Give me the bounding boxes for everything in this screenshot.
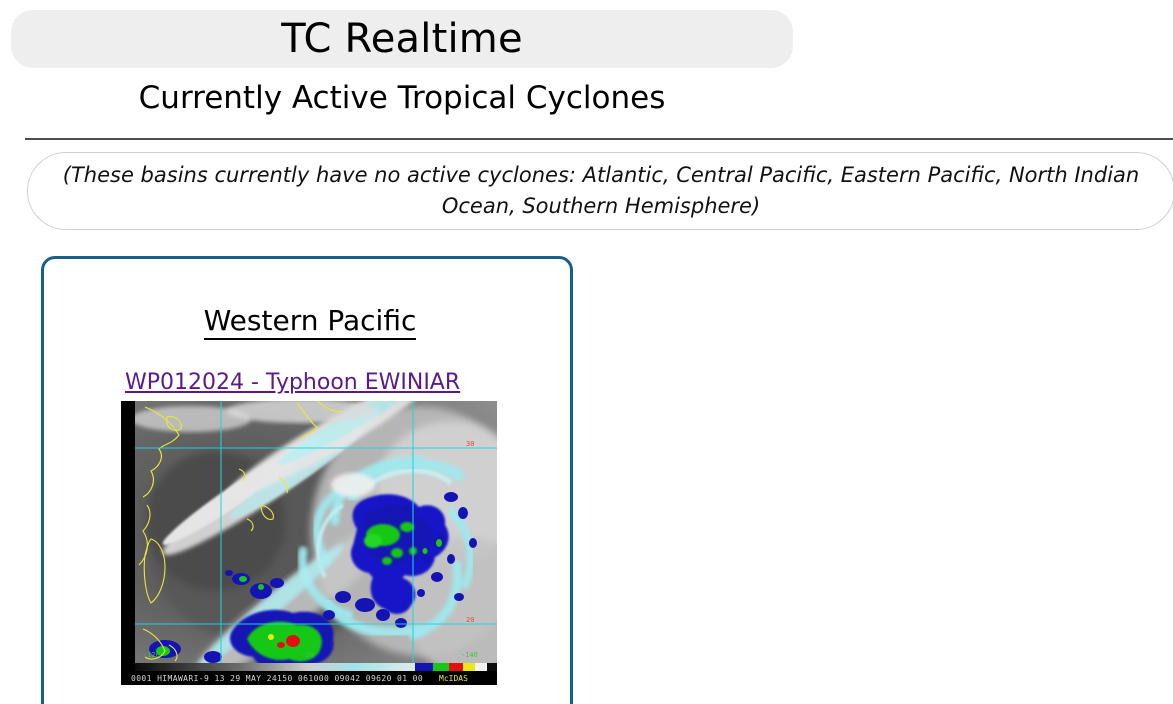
header-divider	[25, 138, 1173, 140]
page-title-banner: TC Realtime	[11, 10, 793, 68]
sat-lon-label-mid: -20	[301, 651, 314, 659]
sat-lon-label-right: -140	[461, 651, 478, 659]
satellite-image-canvas: 30 20 -120 -140 -20	[121, 401, 497, 685]
sat-lat-label-bottom: 20	[466, 616, 474, 624]
page-root: TC Realtime Currently Active Tropical Cy…	[0, 0, 1173, 704]
sat-lat-label-top: 30	[466, 440, 474, 448]
sat-lon-label-left: -120	[143, 651, 160, 659]
satellite-colorbar	[135, 663, 497, 671]
page-title: TC Realtime	[281, 18, 523, 60]
satellite-source-tag: McIDAS	[439, 674, 468, 683]
basin-card-western-pacific: Western Pacific WP012024 - Typhoon EWINI…	[41, 256, 573, 704]
inactive-basins-notice-text: (These basins currently have no active c…	[48, 160, 1154, 222]
satellite-image-wp012024[interactable]: 30 20 -120 -140 -20	[121, 401, 497, 685]
satellite-caption: 0001 HIMAWARI-9 13 29 MAY 24150 061000 0…	[131, 674, 423, 683]
inactive-basins-notice: (These basins currently have no active c…	[27, 152, 1173, 230]
basin-card-title: Western Pacific	[44, 304, 573, 338]
basin-card-title-text: Western Pacific	[204, 304, 417, 340]
page-subtitle: Currently Active Tropical Cyclones	[11, 78, 793, 118]
storm-link-wp012024[interactable]: WP012024 - Typhoon EWINIAR	[125, 370, 460, 396]
